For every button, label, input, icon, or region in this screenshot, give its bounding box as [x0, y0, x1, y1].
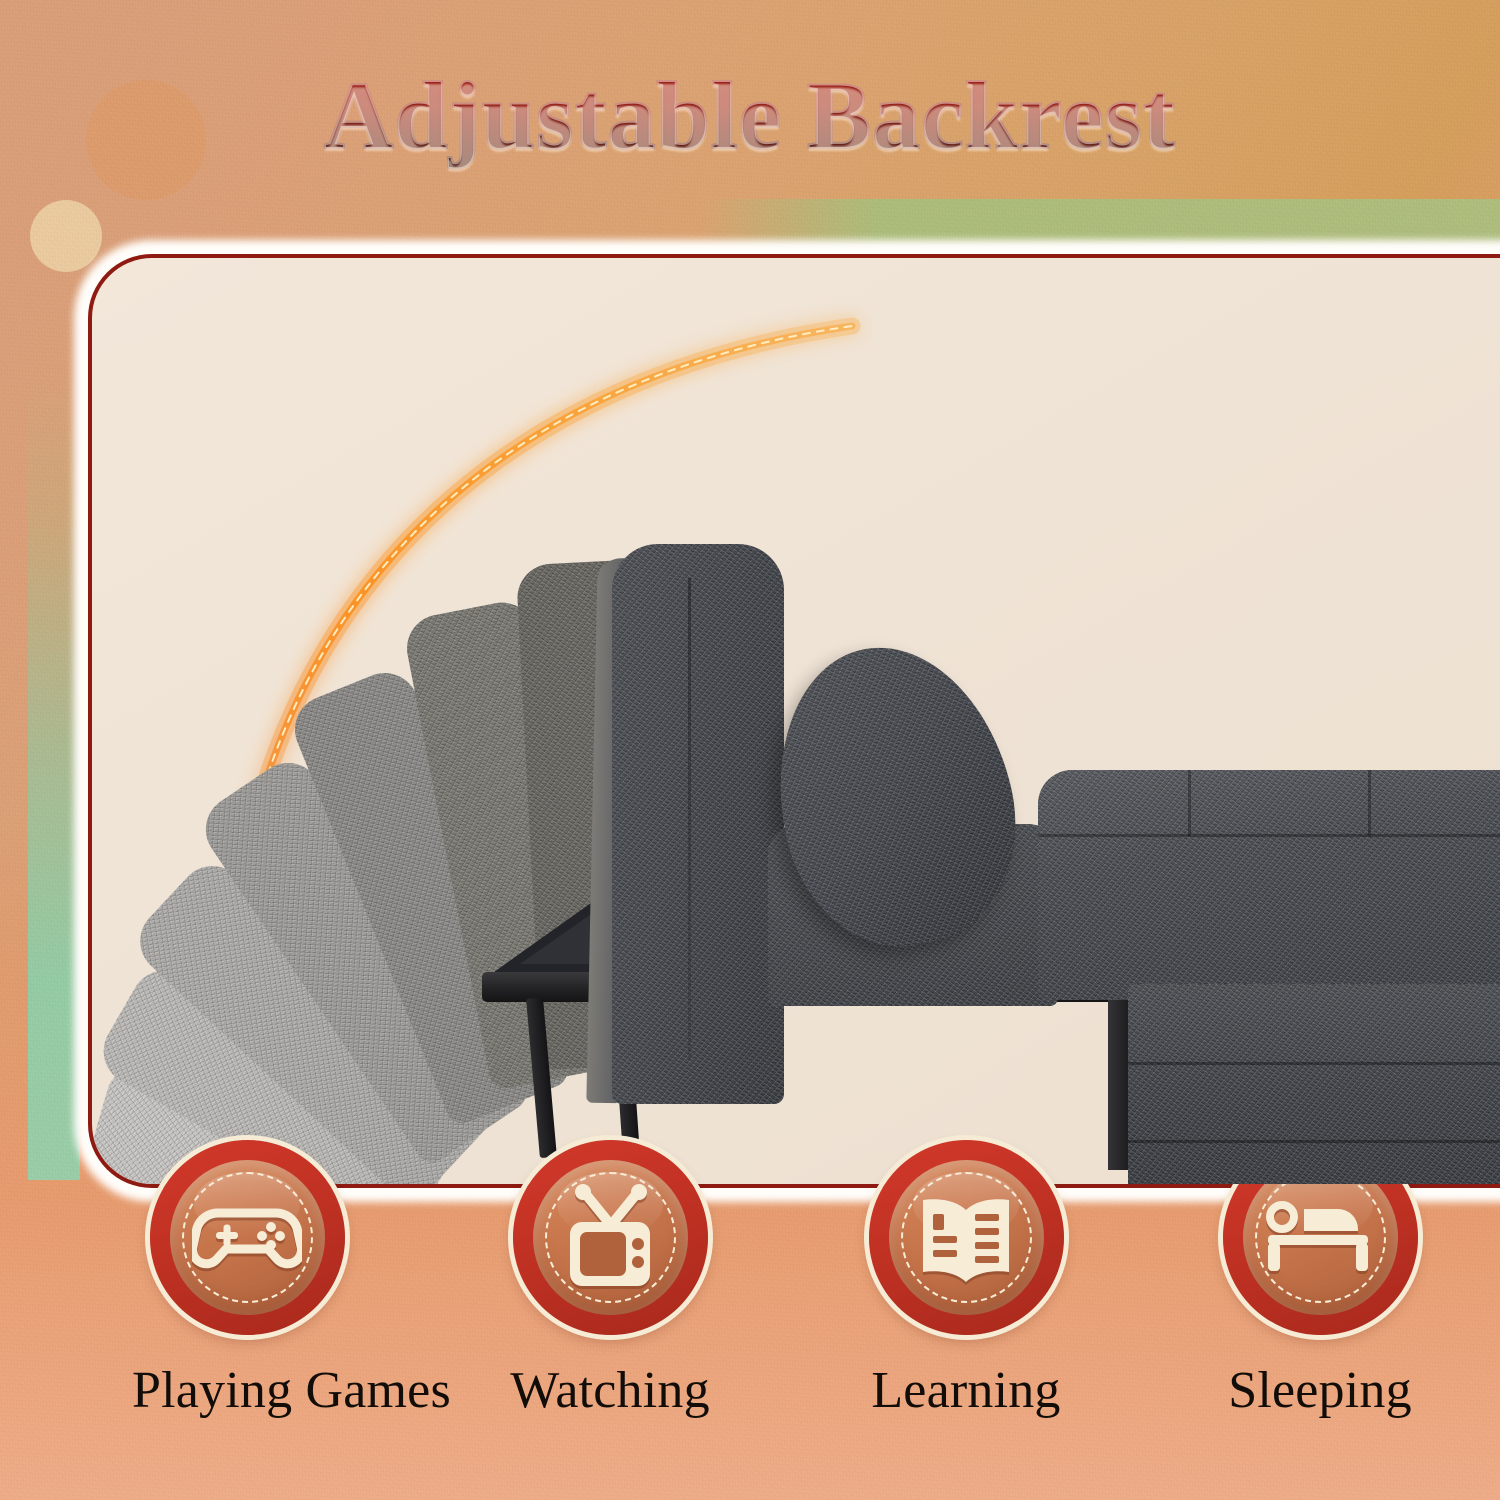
seat-cushion-right — [1038, 770, 1500, 1000]
feature-label: Watching — [495, 1361, 725, 1420]
badge-ring — [869, 1140, 1064, 1335]
seam-line — [688, 578, 691, 1060]
open-book-icon — [869, 1140, 1064, 1335]
gamepad-icon — [150, 1140, 345, 1335]
tufting-seam — [1128, 1140, 1500, 1143]
tufting-seam — [1368, 770, 1371, 836]
infographic-root: Adjustable Backrest — [0, 0, 1500, 1500]
feature-list: Playing Games — [0, 1130, 1500, 1500]
feature-learning[interactable]: Learning — [851, 1140, 1081, 1420]
tufting-seam — [1038, 834, 1500, 837]
feature-label: Sleeping — [1205, 1361, 1435, 1420]
television-icon — [513, 1140, 708, 1335]
fabric-texture — [612, 544, 784, 1104]
feature-playing-games[interactable]: Playing Games — [132, 1140, 362, 1420]
feature-watching[interactable]: Watching — [495, 1140, 725, 1420]
page-title: Adjustable Backrest — [0, 60, 1500, 171]
backrest-current — [612, 544, 784, 1104]
fabric-texture — [1128, 984, 1500, 1188]
feature-label: Playing Games — [132, 1361, 362, 1420]
sofa-base-body — [1128, 984, 1500, 1188]
badge-ring — [513, 1140, 708, 1335]
product-photo-panel — [88, 254, 1500, 1188]
sofa-illustration — [92, 258, 1500, 1184]
fabric-texture — [1038, 770, 1500, 1000]
feature-label: Learning — [851, 1361, 1081, 1420]
tufting-seam — [1188, 770, 1191, 836]
tufting-seam — [1128, 1062, 1500, 1065]
badge-ring — [150, 1140, 345, 1335]
